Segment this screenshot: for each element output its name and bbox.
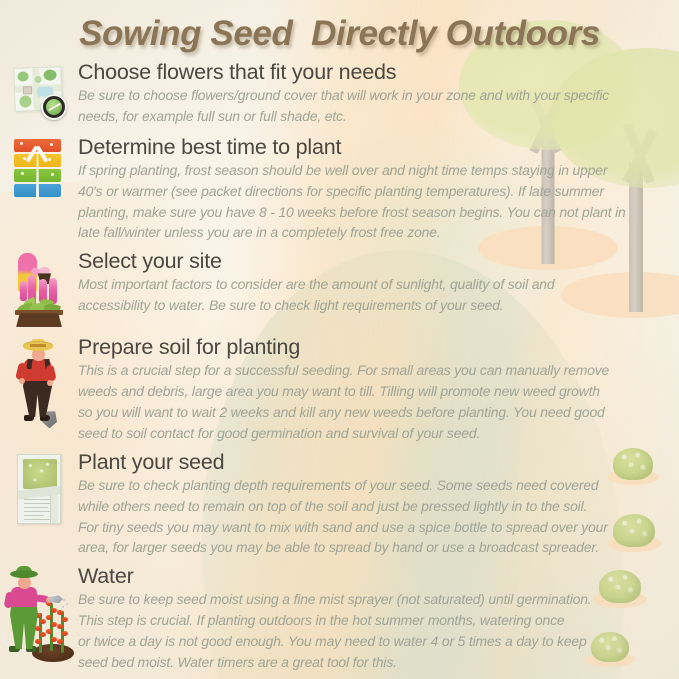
flower-bud bbox=[40, 619, 46, 624]
page-title: Sowing Seed Directly Outdoors bbox=[0, 14, 679, 54]
gardener-hand bbox=[47, 380, 53, 386]
flower-bud bbox=[40, 632, 46, 637]
step-icon-cell bbox=[0, 135, 78, 201]
plan-shrub bbox=[35, 76, 42, 83]
compass-icon bbox=[41, 94, 67, 120]
step-icon-cell bbox=[0, 60, 78, 120]
step-heading: Choose flowers that fit your needs bbox=[78, 60, 667, 84]
list-item: Plant your seed Be sure to check plantin… bbox=[0, 450, 679, 559]
seasons-leaf-dot bbox=[50, 143, 53, 146]
list-item: Prepare soil for planting This is a cruc… bbox=[0, 335, 679, 444]
seasons-leaf-dot bbox=[20, 142, 23, 145]
step-text-cell: Determine best time to plant If spring p… bbox=[78, 135, 679, 244]
seed-packet-text-line bbox=[24, 507, 48, 509]
list-item: Select your site Most important factors … bbox=[0, 249, 679, 327]
gardener-with-shovel-icon bbox=[9, 339, 69, 431]
step-heading: Plant your seed bbox=[78, 450, 667, 474]
plan-house bbox=[23, 86, 32, 94]
seasons-tree-trunk bbox=[35, 151, 40, 199]
step-icon-cell bbox=[0, 335, 78, 431]
planter-box bbox=[16, 313, 62, 327]
step-body: Be sure to keep seed moist using a fine … bbox=[78, 589, 667, 672]
seed-packet-side-panel bbox=[50, 495, 58, 523]
step-heading: Determine best time to plant bbox=[78, 135, 667, 159]
step-body: Most important factors to consider are t… bbox=[78, 274, 667, 316]
step-text-cell: Prepare soil for planting This is a cruc… bbox=[78, 335, 679, 444]
gardener-head bbox=[18, 576, 31, 589]
step-heading: Prepare soil for planting bbox=[78, 335, 667, 359]
seed-packet-body bbox=[17, 454, 61, 524]
list-item: Determine best time to plant If spring p… bbox=[0, 135, 679, 244]
seed-packet-text-line bbox=[24, 515, 44, 517]
step-body: Be sure to choose flowers/ground cover t… bbox=[78, 85, 667, 127]
step-heading: Water bbox=[78, 564, 667, 588]
list-item: Choose flowers that fit your needs Be su… bbox=[0, 60, 679, 127]
step-body: This is a crucial step for a successful … bbox=[78, 360, 667, 443]
straw-hat-band bbox=[30, 344, 46, 347]
step-body: Be sure to check planting depth requirem… bbox=[78, 475, 667, 558]
water-droplet bbox=[63, 599, 65, 601]
gardener-watering-icon bbox=[2, 568, 76, 664]
steps-list: Choose flowers that fit your needs Be su… bbox=[0, 60, 679, 673]
step-icon-cell bbox=[0, 249, 78, 327]
list-item: Water Be sure to keep seed moist using a… bbox=[0, 564, 679, 673]
step-heading: Select your site bbox=[78, 249, 667, 273]
seed-packet-text-line bbox=[24, 499, 50, 501]
seasons-leaf-dot bbox=[48, 158, 51, 161]
flower-bud bbox=[62, 617, 68, 622]
seasons-leaf-dot bbox=[21, 172, 24, 175]
step-text-cell: Choose flowers that fit your needs Be su… bbox=[78, 60, 679, 127]
step-text-cell: Select your site Most important factors … bbox=[78, 249, 679, 316]
flower-bud bbox=[62, 631, 68, 636]
step-icon-cell bbox=[0, 450, 78, 526]
step-icon-cell bbox=[0, 564, 78, 664]
step-text-cell: Plant your seed Be sure to check plantin… bbox=[78, 450, 679, 559]
green-hat-icon bbox=[10, 570, 38, 578]
infographic-poster: Sowing Seed Directly Outdoors bbox=[0, 0, 679, 679]
step-text-cell: Water Be sure to keep seed moist using a… bbox=[78, 564, 679, 673]
seed-packet-photo bbox=[23, 459, 57, 489]
plan-shrub bbox=[17, 71, 28, 81]
foxglove-spike bbox=[20, 281, 27, 301]
plan-shrub bbox=[43, 69, 56, 80]
four-seasons-bands-icon bbox=[12, 139, 66, 201]
seed-packet-text-line bbox=[24, 511, 53, 513]
seasons-leaf-dot bbox=[23, 157, 26, 160]
water-droplet bbox=[66, 603, 68, 605]
seed-packet-icon bbox=[13, 454, 65, 526]
seed-packet-text-line bbox=[24, 519, 50, 521]
seasons-tree-silhouette bbox=[31, 141, 43, 199]
water-droplet bbox=[62, 606, 64, 608]
seasons-leaf-dot bbox=[51, 173, 54, 176]
compass-needle bbox=[48, 103, 60, 111]
plan-shrub bbox=[19, 95, 31, 107]
step-body: If spring planting, frost season should … bbox=[78, 160, 667, 243]
flower-bed-planting-icon bbox=[8, 253, 70, 327]
garden-plan-compass-icon bbox=[10, 64, 68, 120]
